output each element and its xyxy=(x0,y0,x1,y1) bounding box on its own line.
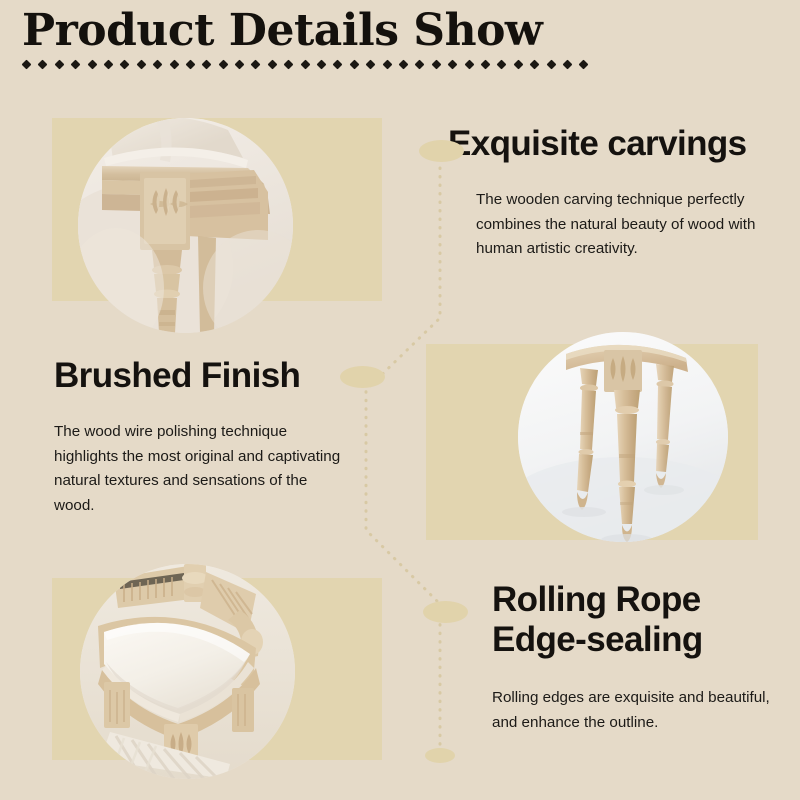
divider-diamond xyxy=(431,60,441,70)
section-heading-brushed-finish: Brushed Finish xyxy=(54,356,384,396)
divider-diamond xyxy=(300,60,310,70)
bullet-marker-exquisite-carvings xyxy=(419,140,464,162)
divider-diamond xyxy=(284,60,294,70)
divider-diamond xyxy=(399,60,409,70)
divider-diamond xyxy=(267,60,277,70)
divider-diamond xyxy=(202,60,212,70)
divider-diamond xyxy=(448,60,458,70)
diamond-divider xyxy=(18,61,578,68)
divider-diamond xyxy=(185,60,195,70)
divider-diamond xyxy=(71,60,81,70)
infographic-page: Product Details Show xyxy=(0,0,800,800)
bullet-marker-trail-end xyxy=(425,748,455,763)
divider-diamond xyxy=(333,60,343,70)
divider-diamond xyxy=(136,60,146,70)
divider-diamond xyxy=(104,60,114,70)
divider-diamond xyxy=(415,60,425,70)
title-block: Product Details Show xyxy=(18,8,578,68)
product-photo-seat-edge xyxy=(80,564,295,779)
divider-diamond xyxy=(22,60,32,70)
divider-diamond xyxy=(153,60,163,70)
divider-diamond xyxy=(169,60,179,70)
media-rolling-rope xyxy=(52,578,382,778)
section-heading-rolling-rope: Rolling Rope Edge-sealing xyxy=(492,580,782,659)
divider-diamond xyxy=(120,60,130,70)
product-photo-carving xyxy=(78,118,293,333)
divider-diamond xyxy=(546,60,556,70)
divider-diamond xyxy=(251,60,261,70)
divider-diamond xyxy=(464,60,474,70)
divider-diamond xyxy=(87,60,97,70)
media-exquisite-carvings xyxy=(52,118,382,333)
section-body-rolling-rope: Rolling edges are exquisite and beautifu… xyxy=(492,686,782,735)
section-heading-exquisite-carvings: Exquisite carvings xyxy=(448,124,788,164)
divider-diamond xyxy=(382,60,392,70)
page-title: Product Details Show xyxy=(18,8,578,54)
divider-diamond xyxy=(38,60,48,70)
divider-diamond xyxy=(579,60,589,70)
divider-diamond xyxy=(562,60,572,70)
bullet-marker-rolling-rope xyxy=(423,601,468,623)
divider-diamond xyxy=(530,60,540,70)
divider-diamond xyxy=(366,60,376,70)
divider-diamond xyxy=(497,60,507,70)
divider-diamond xyxy=(235,60,245,70)
divider-diamond xyxy=(480,60,490,70)
bullet-marker-brushed-finish xyxy=(340,366,385,388)
media-brushed-finish xyxy=(426,344,758,540)
divider-diamond xyxy=(54,60,64,70)
product-photo-legs xyxy=(518,332,728,542)
divider-diamond xyxy=(349,60,359,70)
section-body-brushed-finish: The wood wire polishing technique highli… xyxy=(54,420,344,519)
section-body-exquisite-carvings: The wooden carving technique perfectly c… xyxy=(476,188,776,262)
divider-diamond xyxy=(513,60,523,70)
divider-diamond xyxy=(317,60,327,70)
divider-diamond xyxy=(218,60,228,70)
